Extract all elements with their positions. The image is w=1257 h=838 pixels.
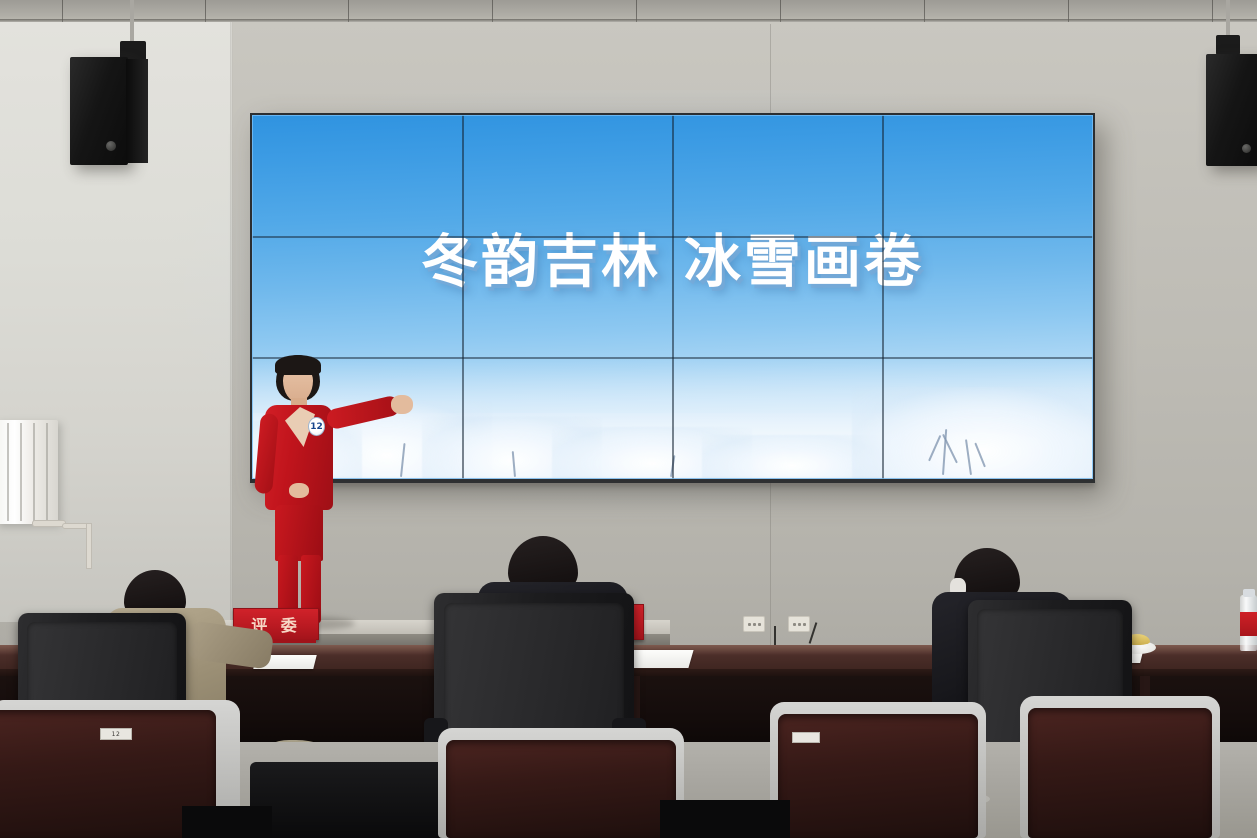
presenter-hand-left bbox=[289, 483, 309, 498]
chair-seatback bbox=[446, 740, 676, 838]
foreground-shadow bbox=[182, 806, 272, 838]
rime-tree-cluster bbox=[852, 387, 1093, 479]
radiator-fin bbox=[7, 423, 9, 521]
speaker-bracket bbox=[1216, 35, 1240, 55]
presenter-hand-raised bbox=[391, 395, 413, 414]
auditorium-chair-center[interactable] bbox=[438, 728, 684, 838]
wall-radiator bbox=[0, 420, 60, 530]
auditorium-chair-far-right[interactable] bbox=[1020, 696, 1220, 838]
wall-outlet-1[interactable] bbox=[743, 616, 765, 632]
wall-corner bbox=[230, 22, 233, 622]
panel-bezel-vertical bbox=[672, 115, 674, 479]
speaker-driver-icon bbox=[106, 141, 116, 151]
panel-bezel-vertical bbox=[882, 115, 884, 479]
radiator-fin bbox=[33, 423, 35, 521]
chair-seat bbox=[250, 762, 450, 838]
speaker-cabinet bbox=[70, 57, 128, 165]
speaker-mount-pole bbox=[130, 0, 134, 46]
radiator-valve bbox=[32, 520, 66, 527]
radiator-fin bbox=[46, 423, 48, 521]
presenter-hair-top bbox=[275, 355, 321, 375]
chair-tag-right bbox=[792, 732, 820, 743]
panel-bezel-horizontal bbox=[252, 236, 1093, 238]
bottle-label bbox=[1240, 612, 1257, 636]
presenter-number-badge: 12 bbox=[308, 417, 325, 436]
foreground-shadow bbox=[660, 800, 790, 838]
wall-outlet-2[interactable] bbox=[788, 616, 810, 632]
conference-room-photo: 冬韵吉林 冰雪画卷 12 bbox=[0, 0, 1257, 838]
presenter-arm-raised bbox=[325, 394, 402, 430]
radiator-fin bbox=[20, 423, 22, 521]
radiator-pipe-down bbox=[86, 523, 92, 569]
speaker-driver-icon bbox=[1242, 144, 1251, 153]
auditorium-chair-right[interactable] bbox=[770, 702, 986, 838]
speaker-left bbox=[70, 45, 180, 175]
presenter-pants-hip bbox=[275, 505, 323, 561]
chair-tag-left: 12 bbox=[100, 728, 132, 740]
auditorium-chair-left-seat[interactable] bbox=[250, 762, 450, 838]
speaker-right bbox=[1206, 40, 1257, 175]
panel-bezel-vertical bbox=[462, 115, 464, 479]
bottle-cap bbox=[1243, 589, 1255, 597]
chair-seatback bbox=[1028, 708, 1212, 838]
speaker-cabinet-side bbox=[126, 59, 148, 163]
